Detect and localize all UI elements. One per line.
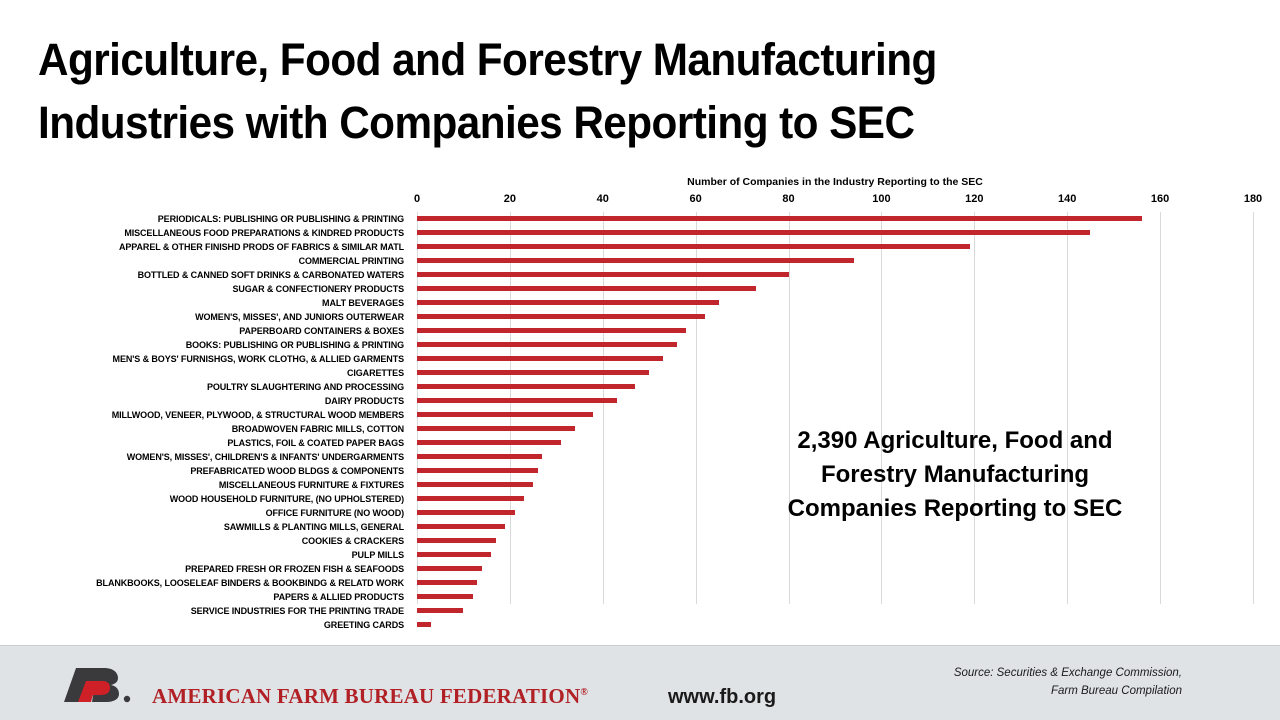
category-label: PLASTICS, FOIL & COATED PAPER BAGS [0,436,409,450]
bar-row[interactable] [417,576,1253,590]
category-label: MISCELLANEOUS FOOD PREPARATIONS & KINDRE… [0,226,409,240]
organization-name-text: AMERICAN FARM BUREAU FEDERATION [152,684,580,708]
bar-row[interactable] [417,618,1253,632]
bar-row[interactable] [417,282,1253,296]
category-label: WOOD HOUSEHOLD FURNITURE, (NO UPHOLSTERE… [0,492,409,506]
category-label: BLANKBOOKS, LOOSELEAF BINDERS & BOOKBIND… [0,576,409,590]
bar-row[interactable] [417,408,1253,422]
category-label: PAPERBOARD CONTAINERS & BOXES [0,324,409,338]
bar-row[interactable] [417,324,1253,338]
bar-row[interactable] [417,338,1253,352]
page-title-line-2: Industries with Companies Reporting to S… [38,91,1100,154]
x-tick-label: 140 [1058,193,1076,205]
category-label: COOKIES & CRACKERS [0,534,409,548]
category-label: MEN'S & BOYS' FURNISHGS, WORK CLOTHG, & … [0,352,409,366]
x-tick-label: 60 [690,193,702,205]
bar[interactable] [417,566,482,571]
category-label: COMMERCIAL PRINTING [0,254,409,268]
bar[interactable] [417,580,477,585]
page-title-line-1: Agriculture, Food and Forestry Manufactu… [38,28,1100,91]
category-label: WOMEN'S, MISSES', CHILDREN'S & INFANTS' … [0,450,409,464]
x-tick-label: 160 [1151,193,1169,205]
bar[interactable] [417,328,686,333]
bar[interactable] [417,398,617,403]
bar-row[interactable] [417,548,1253,562]
bar-row[interactable] [417,296,1253,310]
bar[interactable] [417,496,524,501]
source-note-line-1: Source: Securities & Exchange Commission… [842,664,1182,682]
category-label: WOMEN'S, MISSES', AND JUNIORS OUTERWEAR [0,310,409,324]
plot-area [417,212,1253,604]
summary-annotation-line-2: Forestry Manufacturing [735,458,1175,492]
category-label: MALT BEVERAGES [0,296,409,310]
category-label: SUGAR & CONFECTIONERY PRODUCTS [0,282,409,296]
bar-rows [417,212,1253,604]
category-label: SERVICE INDUSTRIES FOR THE PRINTING TRAD… [0,604,409,618]
bar[interactable] [417,342,677,347]
category-label: MILLWOOD, VENEER, PLYWOOD, & STRUCTURAL … [0,408,409,422]
bar[interactable] [417,552,491,557]
bar[interactable] [417,622,431,627]
bar-row[interactable] [417,240,1253,254]
source-note: Source: Securities & Exchange Commission… [842,664,1182,700]
bar[interactable] [417,454,542,459]
bar[interactable] [417,510,515,515]
fb-logo-icon [62,664,134,704]
x-axis-tick-labels: 020406080100120140160180 [0,193,1280,209]
bar-row[interactable] [417,212,1253,226]
category-label: SAWMILLS & PLANTING MILLS, GENERAL [0,520,409,534]
bar[interactable] [417,258,854,263]
bar[interactable] [417,440,561,445]
bar[interactable] [417,608,463,613]
bar[interactable] [417,356,663,361]
category-label: BOTTLED & CANNED SOFT DRINKS & CARBONATE… [0,268,409,282]
x-tick-label: 120 [965,193,983,205]
source-note-line-2: Farm Bureau Compilation [842,682,1182,700]
category-label: BROADWOVEN FABRIC MILLS, COTTON [0,422,409,436]
bar-row[interactable] [417,366,1253,380]
category-label: PREPARED FRESH OR FROZEN FISH & SEAFOODS [0,562,409,576]
bar-row[interactable] [417,310,1253,324]
bar-row[interactable] [417,604,1253,618]
category-axis-labels: PERIODICALS: PUBLISHING OR PUBLISHING & … [0,212,409,632]
category-label: CIGARETTES [0,366,409,380]
x-tick-label: 80 [782,193,794,205]
bar[interactable] [417,300,719,305]
gridline [1253,212,1254,604]
slide-root: Agriculture, Food and Forestry Manufactu… [0,0,1280,720]
bar[interactable] [417,412,593,417]
summary-annotation-line-3: Companies Reporting to SEC [735,492,1175,526]
bar[interactable] [417,468,538,473]
category-label: PAPERS & ALLIED PRODUCTS [0,590,409,604]
category-label: PREFABRICATED WOOD BLDGS & COMPONENTS [0,464,409,478]
bar[interactable] [417,426,575,431]
bar-row[interactable] [417,226,1253,240]
organization-name: AMERICAN FARM BUREAU FEDERATION® [152,684,588,709]
registered-mark: ® [580,687,588,698]
bar-row[interactable] [417,380,1253,394]
bar-row[interactable] [417,394,1253,408]
x-tick-label: 20 [504,193,516,205]
category-label: BOOKS: PUBLISHING OR PUBLISHING & PRINTI… [0,338,409,352]
category-label: MISCELLANEOUS FURNITURE & FIXTURES [0,478,409,492]
x-axis-title: Number of Companies in the Industry Repo… [417,176,1253,188]
bar-row[interactable] [417,534,1253,548]
bar-row[interactable] [417,268,1253,282]
bar[interactable] [417,244,970,249]
category-label: PULP MILLS [0,548,409,562]
x-tick-label: 40 [597,193,609,205]
bar-row[interactable] [417,562,1253,576]
summary-annotation-line-1: 2,390 Agriculture, Food and [735,424,1175,458]
x-tick-label: 100 [872,193,890,205]
website-link[interactable]: www.fb.org [668,686,776,709]
bar-row[interactable] [417,254,1253,268]
x-tick-label: 0 [414,193,420,205]
bar[interactable] [417,216,1142,221]
bar[interactable] [417,314,705,319]
category-label: PERIODICALS: PUBLISHING OR PUBLISHING & … [0,212,409,226]
bar[interactable] [417,384,635,389]
bar[interactable] [417,524,505,529]
category-label: DAIRY PRODUCTS [0,394,409,408]
summary-annotation: 2,390 Agriculture, Food and Forestry Man… [735,424,1175,526]
bar[interactable] [417,286,756,291]
category-label: GREETING CARDS [0,618,409,632]
page-title: Agriculture, Food and Forestry Manufactu… [38,28,1168,154]
category-label: APPAREL & OTHER FINISHD PRODS OF FABRICS… [0,240,409,254]
bar[interactable] [417,538,496,543]
category-label: OFFICE FURNITURE (NO WOOD) [0,506,409,520]
bar[interactable] [417,482,533,487]
category-label: POULTRY SLAUGHTERING AND PROCESSING [0,380,409,394]
bar[interactable] [417,594,473,599]
bar-row[interactable] [417,352,1253,366]
bar[interactable] [417,230,1090,235]
bar-row[interactable] [417,590,1253,604]
bar[interactable] [417,272,789,277]
x-tick-label: 180 [1244,193,1262,205]
bar[interactable] [417,370,649,375]
